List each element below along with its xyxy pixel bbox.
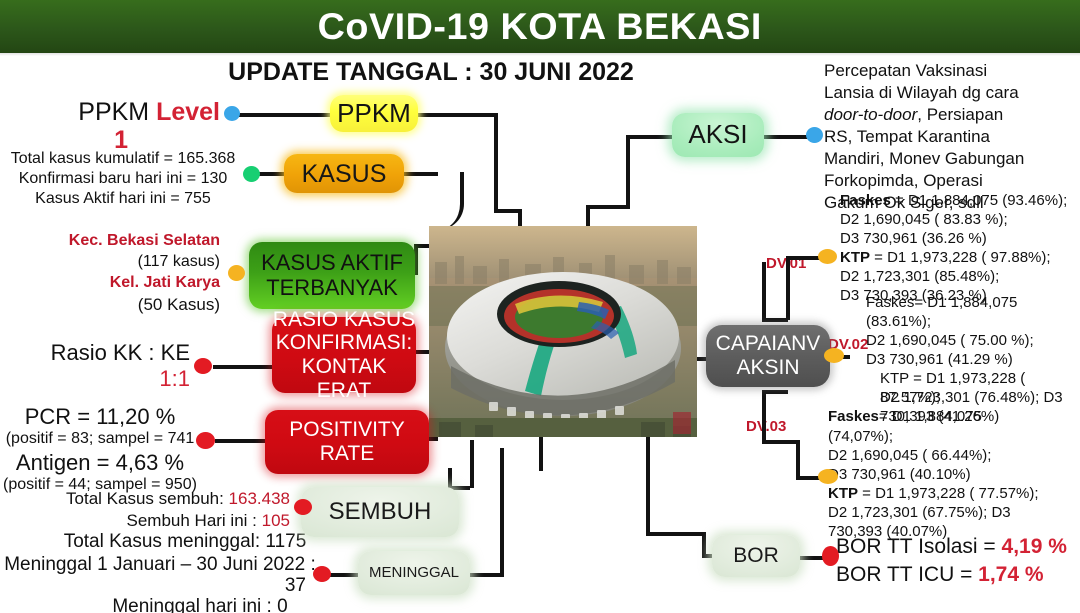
node-meninggal-label: MENINGGAL	[369, 565, 459, 582]
node-capaian-vaksin[interactable]: CAPAIANV AKSIN	[706, 325, 830, 387]
node-ppkm-label: PPKM	[337, 99, 411, 128]
kasus-aktif-hari-ini: Kasus Aktif hari ini = 755	[8, 190, 238, 208]
connector-photo-bottom-2	[646, 437, 650, 533]
connector-dv03-h	[762, 440, 800, 444]
node-rasio-kasus[interactable]: RASIO KASUS KONFIRMASI: KONTAK ERAT	[272, 317, 416, 393]
node-kasus-label: KASUS	[302, 160, 387, 188]
konfirmasi-baru: Konfirmasi baru hari ini = 130	[8, 170, 238, 188]
kel-kasus-count: (50 Kasus)	[20, 295, 220, 315]
node-positivity-line1: POSITIVITY	[289, 418, 405, 442]
meninggal-hari-ini: Meninggal hari ini : 0	[40, 596, 360, 613]
connector-meninggal-left	[330, 573, 360, 577]
dv03-line-2: (74,07%);	[828, 428, 1078, 447]
bor-isolasi: BOR TT Isolasi = 4,19 %	[836, 534, 1080, 560]
connector-dv03-v	[762, 392, 766, 444]
connector-bor-v	[702, 532, 706, 556]
aksi-door-to-door: door-to-door	[824, 105, 917, 124]
ppkm-level-word: Level	[156, 98, 220, 126]
bullet-dot-kasus	[243, 166, 260, 182]
connector-aksi-right	[760, 135, 812, 139]
bor-icu: BOR TT ICU = 1,74 %	[836, 562, 1080, 588]
node-ppkm[interactable]: PPKM	[330, 95, 418, 132]
connector-ppkm-down	[494, 113, 498, 213]
connector-aksi-h1	[586, 205, 630, 209]
meninggal-periode: Meninggal 1 Januari – 30 Juni 2022 :	[0, 554, 320, 576]
dv02-line-2: (83.61%);	[866, 313, 1080, 332]
connector-dv01-v	[762, 262, 766, 320]
aksi-text-line-3: door-to-door, Persiapan	[824, 104, 1076, 125]
node-aksi[interactable]: AKSI	[672, 113, 764, 157]
connector-ppkm-left	[236, 113, 330, 117]
dv03-tag: DV.03	[746, 418, 786, 435]
antigen-value: Antigen = 4,63 %	[0, 450, 200, 476]
bullet-dot-meninggal	[313, 566, 331, 582]
aksi-text-line-1: Percepatan Vaksinasi	[824, 60, 1074, 81]
bullet-dot-rasio	[194, 358, 212, 374]
update-date-line: UPDATE TANGGAL : 30 JUNI 2022	[196, 58, 666, 87]
node-rasio-line2: KONFIRMASI:	[276, 331, 413, 355]
dv03-line-6: D2 1,723,301 (67.75%); D3	[828, 504, 1078, 523]
aksi-text-line-2: Lansia di Wilayah dg cara	[824, 82, 1074, 103]
bullet-dot-dv01	[818, 249, 837, 264]
bullet-dot-ppkm	[224, 106, 240, 121]
node-kasus-aktif-line1: KASUS AKTIF	[261, 251, 403, 276]
sembuh-hari-ini: Sembuh Hari ini : 105	[20, 511, 290, 531]
kec-kasus-count: (117 kasus)	[20, 253, 220, 271]
bullet-dot-dv03	[818, 469, 838, 484]
dv03-line-5: KTP = D1 1,973,228 ( 77.57%);	[828, 485, 1080, 504]
dv03-line-4: D3 730,961 (40.10%)	[828, 466, 1078, 485]
node-kasus-aktif-terbanyak[interactable]: KASUS AKTIF TERBANYAK	[249, 242, 415, 309]
node-aksi-label: AKSI	[688, 120, 747, 149]
ppkm-level-line: PPKM Level	[20, 98, 220, 127]
total-kasus-sembuh: Total Kasus sembuh: 163.438	[20, 489, 290, 509]
dv03-line-3: D2 1,690,045 ( 66.44%);	[828, 447, 1078, 466]
bullet-dot-kasus-aktif	[228, 265, 245, 281]
node-rasio-line1: RASIO KASUS	[273, 308, 415, 332]
kec-bekasi-selatan: Kec. Bekasi Selatan	[20, 232, 220, 250]
dv02-line-4: D3 730,961 (41.29 %)	[866, 351, 1080, 370]
dv01-line-3: D3 730,961 (36.26 %)	[840, 230, 1080, 249]
bullet-dot-sembuh	[294, 499, 312, 515]
sembuh-hari-ini-value: 105	[262, 511, 290, 530]
aksi-text-line-6: Forkopimda, Operasi	[824, 170, 1074, 191]
bullet-dot-bor	[822, 546, 839, 566]
bullet-dot-aksi	[806, 127, 823, 143]
rasio-kk-ke-value: 1:1	[20, 366, 190, 392]
connector-photo-bottom-1	[539, 437, 543, 471]
total-kasus-sembuh-value: 163.438	[229, 489, 290, 508]
meninggal-periode-value: 37	[0, 575, 306, 597]
node-meninggal[interactable]: MENINGGAL	[358, 551, 470, 595]
page-header: CoVID-19 KOTA BEKASI	[0, 0, 1080, 53]
connector-aksi-v	[626, 135, 630, 207]
connector-ppkm-right	[418, 113, 498, 117]
connector-dv01-h0	[762, 318, 788, 322]
page-title: CoVID-19 KOTA BEKASI	[318, 6, 762, 48]
dv02-line-1: Faskes= D1 1,884,075	[866, 294, 1080, 313]
node-bor-label: BOR	[733, 544, 779, 568]
stadium-photo	[429, 226, 697, 437]
connector-rasio-left	[213, 365, 275, 369]
connector-meninggal-up	[500, 448, 504, 576]
connector-meninggal-right	[468, 573, 504, 577]
kel-jati-karya: Kel. Jati Karya	[20, 274, 220, 292]
connector-bor-left	[646, 532, 706, 536]
node-bor[interactable]: BOR	[712, 535, 800, 577]
connector-dv03-h0	[762, 390, 788, 394]
total-kasus-meninggal: Total Kasus meninggal: 1175	[30, 531, 340, 553]
aksi-text-line-4: RS, Tempat Karantina	[824, 126, 1074, 147]
bor-icu-value: 1,74 %	[978, 563, 1043, 586]
dv02-line-3: D2 1,690,045 ( 75.00 %);	[866, 332, 1080, 351]
total-kasus-kumulatif: Total kasus kumulatif = 165.368	[8, 150, 238, 168]
node-positivity-line2: RATE	[320, 442, 374, 466]
rasio-kk-ke-label: Rasio KK : KE	[20, 340, 190, 366]
connector-dv01-h	[786, 256, 822, 260]
infographic-canvas: CoVID-19 KOTA BEKASI UPDATE TANGGAL : 30…	[0, 0, 1080, 613]
aksi-text-line-5: Mandiri, Monev Gabungan	[824, 148, 1076, 169]
dv01-line-2: D2 1,690,045 ( 83.83 %);	[840, 211, 1080, 230]
ppkm-level-prefix: PPKM	[78, 98, 156, 126]
node-rasio-line3: KONTAK ERAT	[272, 355, 416, 402]
dv01-line-1: Faskes = D1 1,884,075 (93.46%);	[840, 192, 1080, 211]
pcr-sample: (positif = 83; sampel = 741	[0, 430, 200, 448]
node-capaian-line2: AKSIN	[736, 356, 799, 380]
connector-kasus-curve	[430, 172, 464, 230]
connector-dv01-v2	[786, 256, 790, 320]
node-kasus-aktif-line2: TERBANYAK	[266, 276, 398, 301]
dv02-line-6: D2 1,723,301 (76.48%); D3	[880, 389, 1078, 408]
bullet-dot-positivity	[196, 432, 215, 449]
bullet-dot-dv02	[824, 348, 844, 363]
header-shadow	[0, 53, 1080, 56]
dv01-line-4: KTP = D1 1,973,228 ( 97.88%);	[840, 249, 1080, 268]
node-sembuh[interactable]: SEMBUH	[301, 487, 459, 537]
node-positivity-rate[interactable]: POSITIVITY RATE	[265, 410, 429, 474]
node-kasus[interactable]: KASUS	[284, 154, 404, 193]
pcr-value: PCR = 11,20 %	[0, 404, 200, 430]
node-sembuh-label: SEMBUH	[329, 499, 432, 526]
connector-aksi-h2	[626, 135, 676, 139]
node-capaian-line1: CAPAIANV	[716, 332, 821, 356]
dv03-line-1: Faskes= D1 1,884,075	[828, 408, 1078, 427]
bor-isolasi-value: 4,19 %	[1002, 535, 1067, 558]
dv01-line-5: D2 1,723,301 (85.48%);	[840, 268, 1080, 287]
connector-dv03-v2	[796, 440, 800, 480]
